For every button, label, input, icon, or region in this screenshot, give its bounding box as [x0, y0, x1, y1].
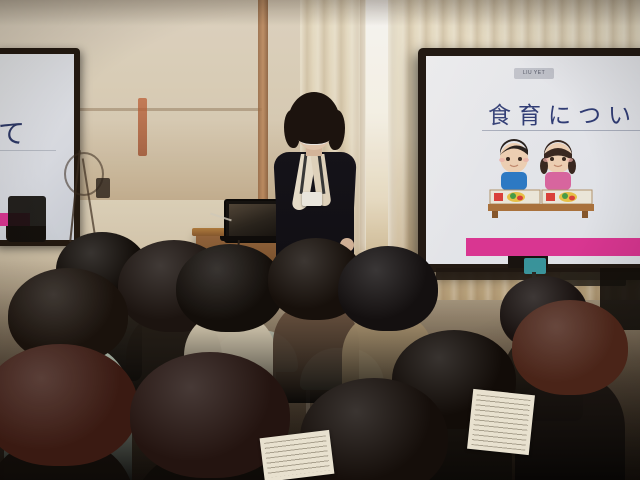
attendee-far-right-head	[512, 300, 628, 395]
handout-right	[467, 389, 535, 455]
handout-text-lines	[264, 435, 330, 477]
photo-scene: て LIU YET 食育につい	[0, 0, 640, 480]
handout-text-lines	[471, 394, 530, 450]
attendee-hairclip-head	[338, 246, 438, 331]
handout-center	[260, 430, 335, 480]
